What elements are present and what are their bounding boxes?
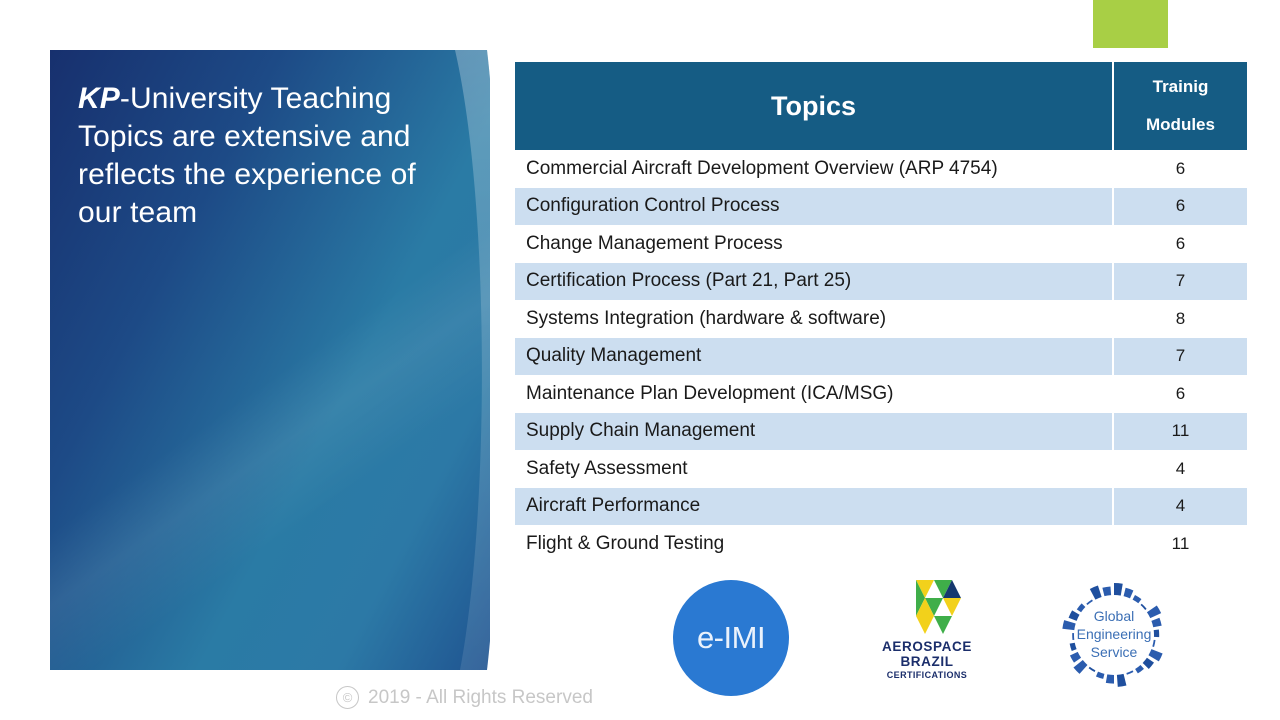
cell-training-modules: 8 bbox=[1113, 300, 1247, 338]
cell-topic: Aircraft Performance bbox=[515, 488, 1113, 526]
cell-topic: Maintenance Plan Development (ICA/MSG) bbox=[515, 375, 1113, 413]
cell-training-modules: 6 bbox=[1113, 375, 1247, 413]
panel-headline-rest: -University Teaching Topics are extensiv… bbox=[78, 82, 416, 229]
ring-spoke bbox=[1124, 588, 1134, 599]
table-row: Change Management Process6 bbox=[515, 225, 1247, 263]
cell-training-modules: 11 bbox=[1113, 413, 1247, 451]
cell-topic: Configuration Control Process bbox=[515, 188, 1113, 226]
cell-training-modules: 6 bbox=[1113, 225, 1247, 263]
cell-topic: Supply Chain Management bbox=[515, 413, 1113, 451]
aerospace-brazil-line2: BRAZIL bbox=[862, 654, 992, 669]
aerospace-brazil-mark-icon bbox=[890, 578, 964, 636]
cell-topic: Change Management Process bbox=[515, 225, 1113, 263]
cell-training-modules: 4 bbox=[1113, 488, 1247, 526]
green-accent-block bbox=[1093, 0, 1168, 48]
table-row: Systems Integration (hardware & software… bbox=[515, 300, 1247, 338]
column-header-training-modules: Trainig Modules bbox=[1113, 62, 1247, 150]
table-body: Commercial Aircraft Development Overview… bbox=[515, 150, 1247, 563]
global-engineering-service-logo: Global Engineering Service bbox=[1050, 576, 1178, 694]
table-row: Aircraft Performance4 bbox=[515, 488, 1247, 526]
slide-canvas: KP-University Teaching Topics are extens… bbox=[0, 0, 1280, 720]
cell-topic: Commercial Aircraft Development Overview… bbox=[515, 150, 1113, 188]
ring-spoke bbox=[1114, 583, 1123, 596]
panel-headline: KP-University Teaching Topics are extens… bbox=[78, 80, 430, 232]
cell-topic: Certification Process (Part 21, Part 25) bbox=[515, 263, 1113, 301]
column-header-training-modules-line2: Modules bbox=[1114, 106, 1247, 144]
ring-spoke bbox=[1102, 587, 1111, 597]
ring-spoke bbox=[1133, 595, 1142, 603]
ring-spoke bbox=[1073, 660, 1087, 674]
topics-table: Topics Trainig Modules Commercial Aircra… bbox=[515, 62, 1247, 563]
cell-training-modules: 7 bbox=[1113, 338, 1247, 376]
global-engineering-line2: Engineering bbox=[1050, 625, 1178, 643]
cell-training-modules: 6 bbox=[1113, 188, 1247, 226]
cell-training-modules: 11 bbox=[1113, 525, 1247, 563]
ring-spoke bbox=[1096, 672, 1104, 679]
ring-spoke bbox=[1117, 674, 1127, 687]
ring-spoke bbox=[1089, 667, 1096, 672]
cell-topic: Safety Assessment bbox=[515, 450, 1113, 488]
global-engineering-label: Global Engineering Service bbox=[1050, 607, 1178, 661]
table-row: Certification Process (Part 21, Part 25)… bbox=[515, 263, 1247, 301]
table-header-row: Topics Trainig Modules bbox=[515, 62, 1247, 150]
cell-topic: Systems Integration (hardware & software… bbox=[515, 300, 1113, 338]
global-engineering-line3: Service bbox=[1050, 643, 1178, 661]
e-imi-logo: e-IMI bbox=[673, 580, 789, 696]
aerospace-brazil-line3: CERTIFICATIONS bbox=[862, 670, 992, 680]
e-imi-label: e-IMI bbox=[697, 620, 765, 656]
cell-training-modules: 4 bbox=[1113, 450, 1247, 488]
table-header: Topics Trainig Modules bbox=[515, 62, 1247, 150]
global-engineering-line1: Global bbox=[1050, 607, 1178, 625]
table-row: Supply Chain Management11 bbox=[515, 413, 1247, 451]
ring-spoke bbox=[1126, 670, 1133, 674]
footer-copyright: © 2019 - All Rights Reserved bbox=[336, 686, 593, 709]
ring-spoke bbox=[1106, 674, 1114, 683]
table-row: Quality Management7 bbox=[515, 338, 1247, 376]
table-row: Configuration Control Process6 bbox=[515, 188, 1247, 226]
table-row: Flight & Ground Testing11 bbox=[515, 525, 1247, 563]
table-row: Maintenance Plan Development (ICA/MSG)6 bbox=[515, 375, 1247, 413]
cell-training-modules: 7 bbox=[1113, 263, 1247, 301]
panel-headline-lead: KP bbox=[78, 82, 120, 115]
e-imi-circle-icon: e-IMI bbox=[673, 580, 789, 696]
ring-spoke bbox=[1135, 665, 1144, 673]
table-row: Commercial Aircraft Development Overview… bbox=[515, 150, 1247, 188]
cell-topic: Quality Management bbox=[515, 338, 1113, 376]
partner-logos: e-IMI AEROSPACE BRAZIL CERTIFICATIONS bbox=[655, 572, 1215, 692]
aerospace-brazil-logo: AEROSPACE BRAZIL CERTIFICATIONS bbox=[862, 578, 992, 690]
column-header-training-modules-line1: Trainig bbox=[1153, 77, 1209, 96]
ring-spoke bbox=[1090, 586, 1102, 600]
ring-spoke bbox=[1086, 599, 1093, 605]
column-header-topics: Topics bbox=[515, 62, 1113, 150]
copyright-icon: © bbox=[336, 686, 359, 709]
cell-topic: Flight & Ground Testing bbox=[515, 525, 1113, 563]
aerospace-brazil-line1: AEROSPACE bbox=[862, 639, 992, 654]
footer-copyright-text: 2019 - All Rights Reserved bbox=[368, 687, 593, 709]
cell-training-modules: 6 bbox=[1113, 150, 1247, 188]
table-row: Safety Assessment4 bbox=[515, 450, 1247, 488]
